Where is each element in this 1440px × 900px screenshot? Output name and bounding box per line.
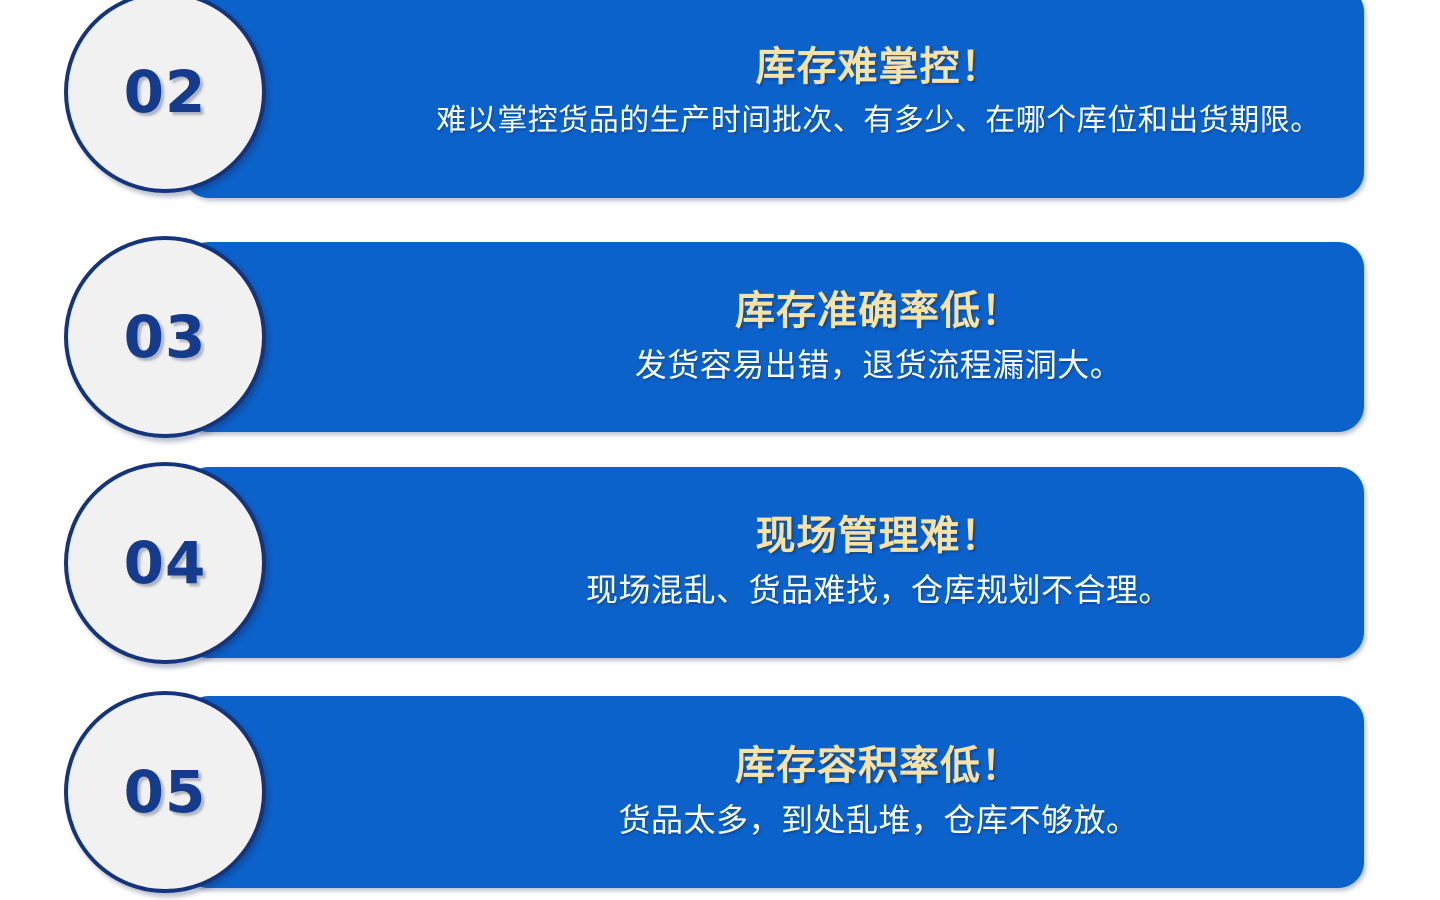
card-row-03: 库存准确率低！ 发货容易出错，退货流程漏洞大。 03	[0, 242, 1440, 432]
card-panel-03: 库存准确率低！ 发货容易出错，退货流程漏洞大。	[183, 242, 1364, 432]
card-text-02: 库存难掌控！ 难以掌控货品的生产时间批次、有多少、在哪个库位和出货期限。	[473, 0, 1284, 198]
card-number-label-05: 05	[124, 758, 207, 826]
card-text-04: 现场管理难！ 现场混乱、货品难找，仓库规划不合理。	[473, 467, 1284, 658]
card-text-05: 库存容积率低！ 货品太多，到处乱堆，仓库不够放。	[473, 696, 1284, 888]
card-panel-05: 库存容积率低！ 货品太多，到处乱堆，仓库不够放。	[183, 696, 1364, 888]
card-title-03: 库存准确率低！	[735, 288, 1022, 335]
card-row-05: 库存容积率低！ 货品太多，到处乱堆，仓库不够放。 05	[0, 696, 1440, 888]
card-description-05: 货品太多，到处乱堆，仓库不够放。	[618, 800, 1138, 842]
card-number-label-03: 03	[124, 303, 207, 371]
card-number-label-02: 02	[124, 58, 207, 126]
card-title-02: 库存难掌控！	[756, 44, 1002, 91]
card-title-04: 现场管理难！	[756, 513, 1002, 560]
card-description-04: 现场混乱、货品难找，仓库规划不合理。	[586, 570, 1171, 612]
card-panel-04: 现场管理难！ 现场混乱、货品难找，仓库规划不合理。	[183, 467, 1364, 658]
card-row-02: 库存难掌控！ 难以掌控货品的生产时间批次、有多少、在哪个库位和出货期限。 02	[0, 0, 1440, 198]
card-text-03: 库存准确率低！ 发货容易出错，退货流程漏洞大。	[473, 242, 1284, 432]
card-number-label-04: 04	[124, 529, 207, 597]
card-panel-02: 库存难掌控！ 难以掌控货品的生产时间批次、有多少、在哪个库位和出货期限。	[183, 0, 1364, 198]
card-number-badge-03: 03	[64, 236, 266, 438]
card-number-badge-05: 05	[64, 691, 266, 893]
card-description-02: 难以掌控货品的生产时间批次、有多少、在哪个库位和出货期限。	[436, 101, 1321, 140]
card-title-05: 库存容积率低！	[735, 743, 1022, 790]
infographic-stage: 库存难掌控！ 难以掌控货品的生产时间批次、有多少、在哪个库位和出货期限。 02 …	[0, 0, 1440, 900]
card-number-badge-04: 04	[64, 462, 266, 664]
card-number-badge-02: 02	[64, 0, 266, 193]
card-row-04: 现场管理难！ 现场混乱、货品难找，仓库规划不合理。 04	[0, 467, 1440, 658]
card-description-03: 发货容易出错，退货流程漏洞大。	[635, 345, 1123, 387]
